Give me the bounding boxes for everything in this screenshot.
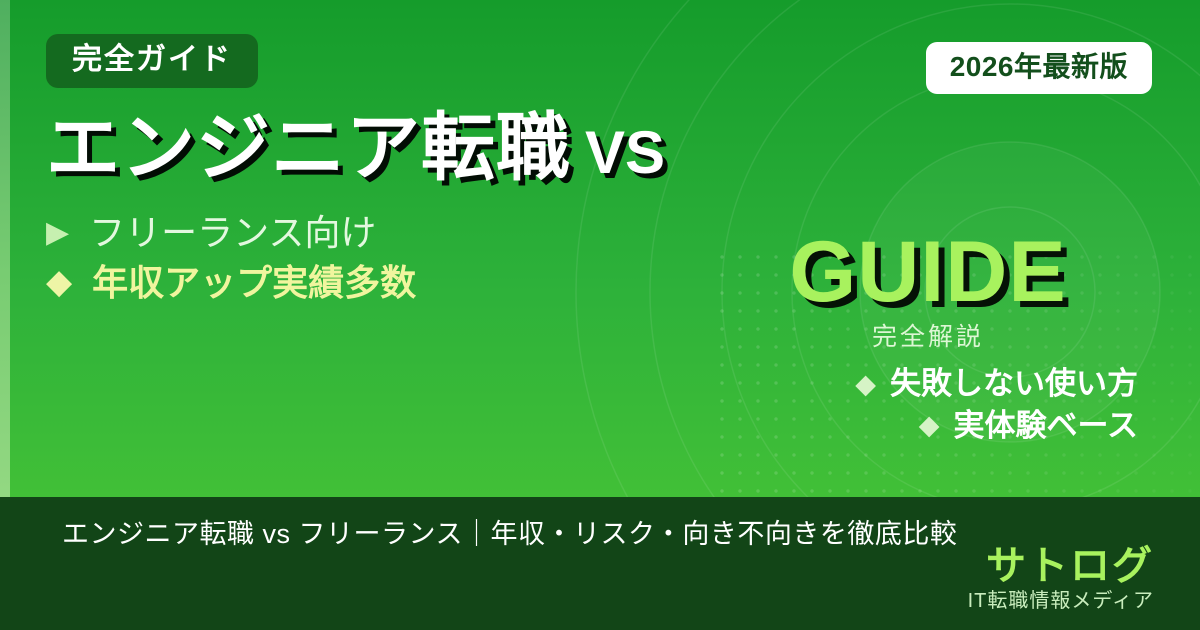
guide-panel: GUIDE 完全解説 ◆ 失敗しない使い方 ◆ 実体験ベース <box>718 230 1138 444</box>
diamond-icon: ◆ <box>855 371 876 398</box>
year-badge: 2026年最新版 <box>926 42 1152 94</box>
guide-feature-2-label: 実体験ベース <box>954 408 1138 444</box>
guide-subtitle: 完全解説 <box>718 322 1138 352</box>
brand-block: サトログ IT転職情報メディア <box>968 545 1154 613</box>
guide-feature-1: ◆ 失敗しない使い方 <box>718 366 1138 402</box>
eyebrow-badge: 完全ガイド <box>46 34 258 88</box>
hero-bullet-2: ◆ 年収アップ実績多数 <box>46 263 746 303</box>
guide-feature-2: ◆ 実体験ベース <box>718 408 1138 444</box>
hero-left-column: 完全ガイド エンジニア転職VS ▶ フリーランス向け ◆ 年収アップ実績多数 <box>46 34 746 302</box>
hero-bullet-1: ▶ フリーランス向け <box>46 213 746 253</box>
brand-tagline: IT転職情報メディア <box>968 589 1154 613</box>
triangle-right-icon: ▶ <box>46 218 69 248</box>
hero-bullet-1-label: フリーランス向け <box>89 213 376 253</box>
left-accent-rail <box>0 0 10 497</box>
footer-bar: エンジニア転職 vs フリーランス｜年収・リスク・向き不向きを徹底比較 サトログ… <box>0 497 1200 630</box>
page-title: エンジニア転職VS <box>46 110 746 187</box>
headline-main-text: エンジニア転職 <box>46 106 571 189</box>
hero-bullet-2-label: 年収アップ実績多数 <box>92 263 416 303</box>
footer-caption: エンジニア転職 vs フリーランス｜年収・リスク・向き不向きを徹底比較 <box>62 517 957 552</box>
headline-vs-text: VS <box>585 119 665 186</box>
guide-feature-1-label: 失敗しない使い方 <box>890 366 1138 402</box>
diamond-icon: ◆ <box>919 412 940 439</box>
ogp-hero-card: 完全ガイド エンジニア転職VS ▶ フリーランス向け ◆ 年収アップ実績多数 G… <box>0 0 1200 630</box>
brand-name: サトログ <box>968 545 1154 587</box>
diamond-icon: ◆ <box>46 265 72 299</box>
guide-title: GUIDE <box>718 230 1138 314</box>
